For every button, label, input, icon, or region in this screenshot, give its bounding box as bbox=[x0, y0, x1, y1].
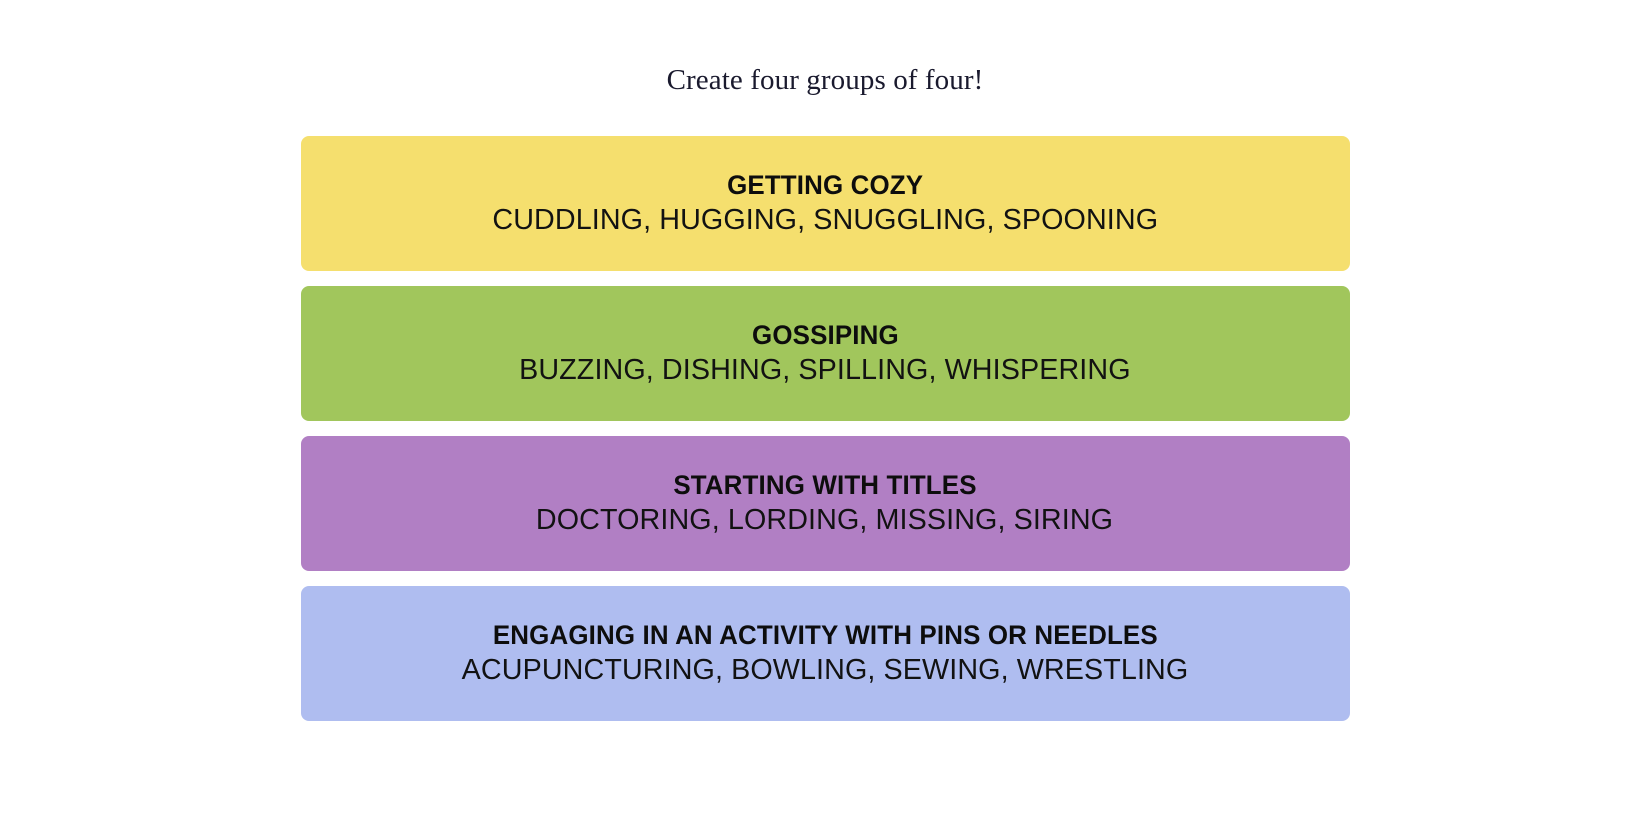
category-title: GOSSIPING bbox=[752, 320, 899, 350]
solution-card-green: GOSSIPING BUZZING, DISHING, SPILLING, WH… bbox=[301, 286, 1350, 421]
puzzle-instruction-text: Create four groups of four! bbox=[667, 65, 984, 97]
connections-solution-screen: Create four groups of four! GETTING COZY… bbox=[0, 0, 1650, 825]
solution-card-blue: ENGAGING IN AN ACTIVITY WITH PINS OR NEE… bbox=[301, 586, 1350, 721]
solution-board: GETTING COZY CUDDLING, HUGGING, SNUGGLIN… bbox=[301, 136, 1350, 721]
category-title: STARTING WITH TITLES bbox=[673, 470, 976, 500]
category-members: CUDDLING, HUGGING, SNUGGLING, SPOONING bbox=[492, 204, 1158, 236]
category-members: ACUPUNCTURING, BOWLING, SEWING, WRESTLIN… bbox=[462, 654, 1189, 686]
category-title: GETTING COZY bbox=[727, 170, 923, 200]
solution-card-yellow: GETTING COZY CUDDLING, HUGGING, SNUGGLIN… bbox=[301, 136, 1350, 271]
category-members: BUZZING, DISHING, SPILLING, WHISPERING bbox=[519, 354, 1131, 386]
solution-card-purple: STARTING WITH TITLES DOCTORING, LORDING,… bbox=[301, 436, 1350, 571]
category-members: DOCTORING, LORDING, MISSING, SIRING bbox=[536, 504, 1113, 536]
category-title: ENGAGING IN AN ACTIVITY WITH PINS OR NEE… bbox=[493, 620, 1158, 650]
